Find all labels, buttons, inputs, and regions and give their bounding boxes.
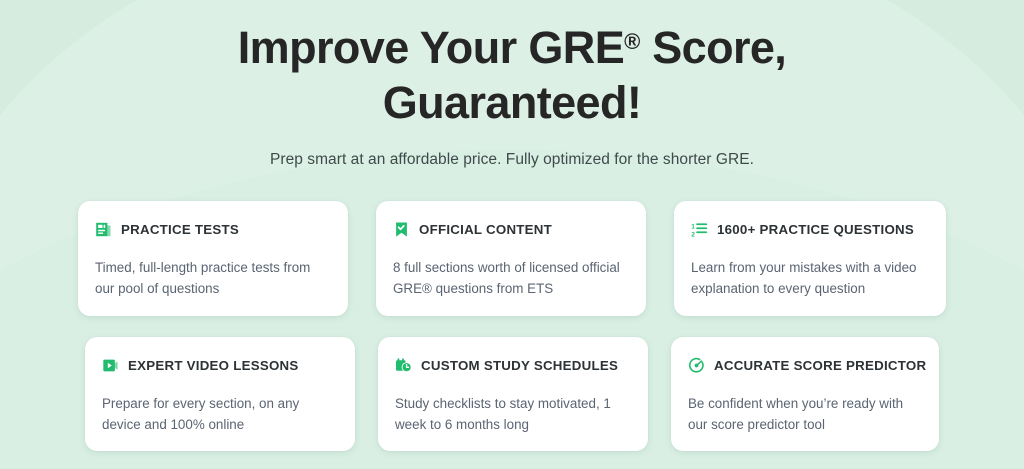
feature-card-body: Be confident when you’re ready with our … [688,393,922,435]
page-title: Improve Your GRE® Score, Guaranteed! [0,14,1024,130]
feature-card-title: 1600+ PRACTICE QUESTIONS [717,222,914,237]
feature-card-row-top: PRACTICE TESTS Timed, full-length practi… [0,201,1024,316]
feature-card-body: Study checklists to stay motivated, 1 we… [395,393,631,435]
practice-tests-icon [95,221,112,238]
feature-card-title: PRACTICE TESTS [121,222,239,237]
feature-card-accurate-score-predictor[interactable]: ACCURATE SCORE PREDICTOR Be confident wh… [671,337,939,451]
feature-card-expert-video-lessons[interactable]: EXPERT VIDEO LESSONS Prepare for every s… [85,337,355,451]
feature-card-body: Learn from your mistakes with a video ex… [691,257,929,299]
feature-card-practice-tests[interactable]: PRACTICE TESTS Timed, full-length practi… [78,201,348,316]
feature-card-header: CUSTOM STUDY SCHEDULES [395,355,631,375]
registered-trademark-symbol: ® [624,29,640,54]
feature-card-row-bottom: EXPERT VIDEO LESSONS Prepare for every s… [0,337,1024,451]
feature-card-header: PRACTICE TESTS [95,219,331,239]
feature-card-header: 1 2 1600+ PRACTICE QUESTIONS [691,219,929,239]
feature-card-official-content[interactable]: OFFICIAL CONTENT 8 full sections worth o… [376,201,646,316]
feature-card-title: ACCURATE SCORE PREDICTOR [714,358,926,373]
numbered-list-icon: 1 2 [691,221,708,238]
feature-card-title: OFFICIAL CONTENT [419,222,552,237]
feature-card-header: ACCURATE SCORE PREDICTOR [688,355,922,375]
feature-card-body: 8 full sections worth of licensed offici… [393,257,629,299]
feature-card-body: Prepare for every section, on any device… [102,393,338,435]
feature-card-title: EXPERT VIDEO LESSONS [128,358,299,373]
page-title-line2: Guaranteed! [383,77,641,128]
bookmark-check-icon [393,221,410,238]
score-gauge-icon [688,357,705,374]
calendar-clock-icon [395,357,412,374]
page-title-line1-suffix: Score, [640,22,786,73]
landing-page: Improve Your GRE® Score, Guaranteed! Pre… [0,0,1024,469]
svg-text:2: 2 [691,231,695,238]
feature-card-title: CUSTOM STUDY SCHEDULES [421,358,618,373]
page-title-line1-prefix: Improve Your GRE [238,22,624,73]
feature-card-header: EXPERT VIDEO LESSONS [102,355,338,375]
feature-card-header: OFFICIAL CONTENT [393,219,629,239]
feature-card-body: Timed, full-length practice tests from o… [95,257,331,299]
feature-card-custom-study-schedules[interactable]: CUSTOM STUDY SCHEDULES Study checklists … [378,337,648,451]
feature-card-practice-questions[interactable]: 1 2 1600+ PRACTICE QUESTIONS Learn from … [674,201,946,316]
hero-section: Improve Your GRE® Score, Guaranteed! Pre… [0,0,1024,169]
page-subtitle: Prep smart at an affordable price. Fully… [0,151,1024,169]
video-play-icon [102,357,119,374]
svg-text:1: 1 [691,223,695,230]
